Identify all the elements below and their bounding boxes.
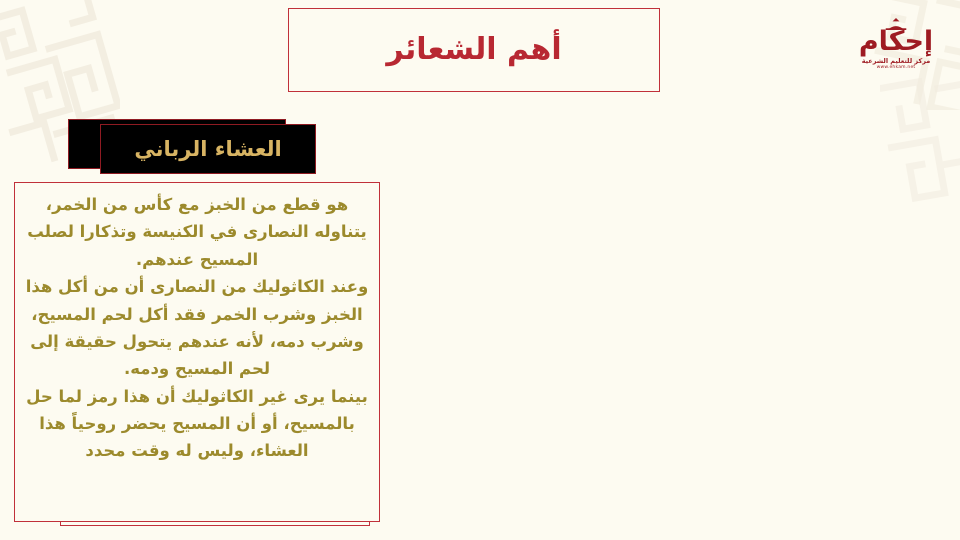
brand-logo: إحكام مركز للتعليم الشرعية www.ehkam.net	[840, 18, 952, 94]
column-body-lords-supper: هو قطع من الخبز مع كأس من الخمر، يتناوله…	[25, 191, 369, 465]
column-heading-lords-supper: العشاء الرباني	[100, 124, 316, 174]
page-title: أهم الشعائر	[386, 35, 561, 65]
slide-root: أهم الشعائر إحكام مركز للتعليم الشرعية w…	[0, 0, 960, 540]
column-heading-lords-supper-label: العشاء الرباني	[134, 139, 281, 160]
logo-tagline: www.ehkam.net	[840, 66, 952, 71]
slide-title-box: أهم الشعائر	[288, 8, 660, 92]
column-panel-lords-supper: هو قطع من الخبز مع كأس من الخمر، يتناوله…	[14, 182, 380, 522]
logo-wordmark: إحكام	[840, 28, 952, 56]
